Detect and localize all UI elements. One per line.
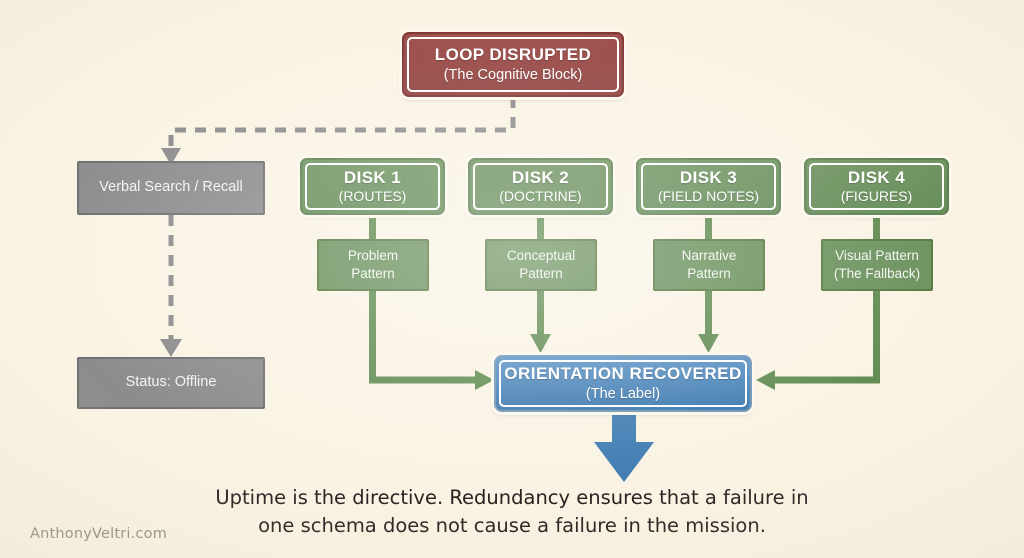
disk-3-subtitle: (FIELD NOTES) [658, 188, 759, 205]
pattern-3-line1: Narrative [682, 247, 737, 265]
watermark-attribution: AnthonyVeltri.com [30, 526, 167, 542]
disk-1-title: DISK 1 [344, 168, 401, 188]
connector-disk3-to-pattern3 [705, 214, 712, 240]
diagram-canvas: LOOP DISRUPTED (The Cognitive Block) Ver… [0, 0, 1024, 558]
connector-pattern4-to-orientation [756, 290, 877, 390]
verbal-search-label: Verbal Search / Recall [99, 179, 242, 196]
loop-disrupted-subtitle: (The Cognitive Block) [444, 67, 583, 84]
node-pattern-narrative[interactable]: Narrative Pattern [653, 239, 765, 291]
status-offline-label: Status: Offline [126, 374, 217, 391]
connector-disk2-to-pattern2 [537, 214, 544, 240]
pattern-1-line1: Problem [348, 247, 398, 265]
connector-pattern2-to-orientation [530, 290, 551, 353]
node-pattern-conceptual[interactable]: Conceptual Pattern [485, 239, 597, 291]
pattern-3-line2: Pattern [687, 265, 731, 283]
connector-verbal-to-status [160, 215, 182, 357]
connector-pattern3-to-orientation [698, 290, 719, 353]
disk-4-title: DISK 4 [848, 168, 905, 188]
pattern-2-line1: Conceptual [507, 247, 575, 265]
node-pattern-problem[interactable]: Problem Pattern [317, 239, 429, 291]
node-verbal-search-recall[interactable]: Verbal Search / Recall [77, 161, 265, 215]
connector-pattern1-to-orientation [373, 290, 495, 390]
connector-orientation-to-caption [594, 412, 654, 482]
disk-4-subtitle: (FIGURES) [841, 188, 913, 205]
pattern-4-line2: (The Fallback) [834, 265, 920, 283]
connector-disk1-to-pattern1 [369, 214, 376, 240]
node-disk-2[interactable]: DISK 2 (DOCTRINE) [468, 158, 613, 215]
node-pattern-visual[interactable]: Visual Pattern (The Fallback) [821, 239, 933, 291]
pattern-1-line2: Pattern [351, 265, 395, 283]
pattern-4-line1: Visual Pattern [835, 247, 919, 265]
loop-disrupted-title: LOOP DISRUPTED [435, 45, 591, 65]
disk-2-subtitle: (DOCTRINE) [499, 188, 581, 205]
connector-loop-to-verbal [161, 97, 513, 165]
orientation-recovered-title: ORIENTATION RECOVERED [504, 364, 742, 384]
disk-1-subtitle: (ROUTES) [339, 188, 407, 205]
caption-line-1: Uptime is the directive. Redundancy ensu… [0, 484, 1024, 512]
pattern-2-line2: Pattern [519, 265, 563, 283]
node-loop-disrupted[interactable]: LOOP DISRUPTED (The Cognitive Block) [402, 32, 624, 97]
disk-2-title: DISK 2 [512, 168, 569, 188]
node-status-offline[interactable]: Status: Offline [77, 357, 265, 409]
node-disk-1[interactable]: DISK 1 (ROUTES) [300, 158, 445, 215]
disk-3-title: DISK 3 [680, 168, 737, 188]
connector-disk4-to-pattern4 [873, 214, 880, 240]
node-orientation-recovered[interactable]: ORIENTATION RECOVERED (The Label) [494, 355, 752, 412]
node-disk-4[interactable]: DISK 4 (FIGURES) [804, 158, 949, 215]
node-disk-3[interactable]: DISK 3 (FIELD NOTES) [636, 158, 781, 215]
orientation-recovered-subtitle: (The Label) [586, 386, 660, 403]
